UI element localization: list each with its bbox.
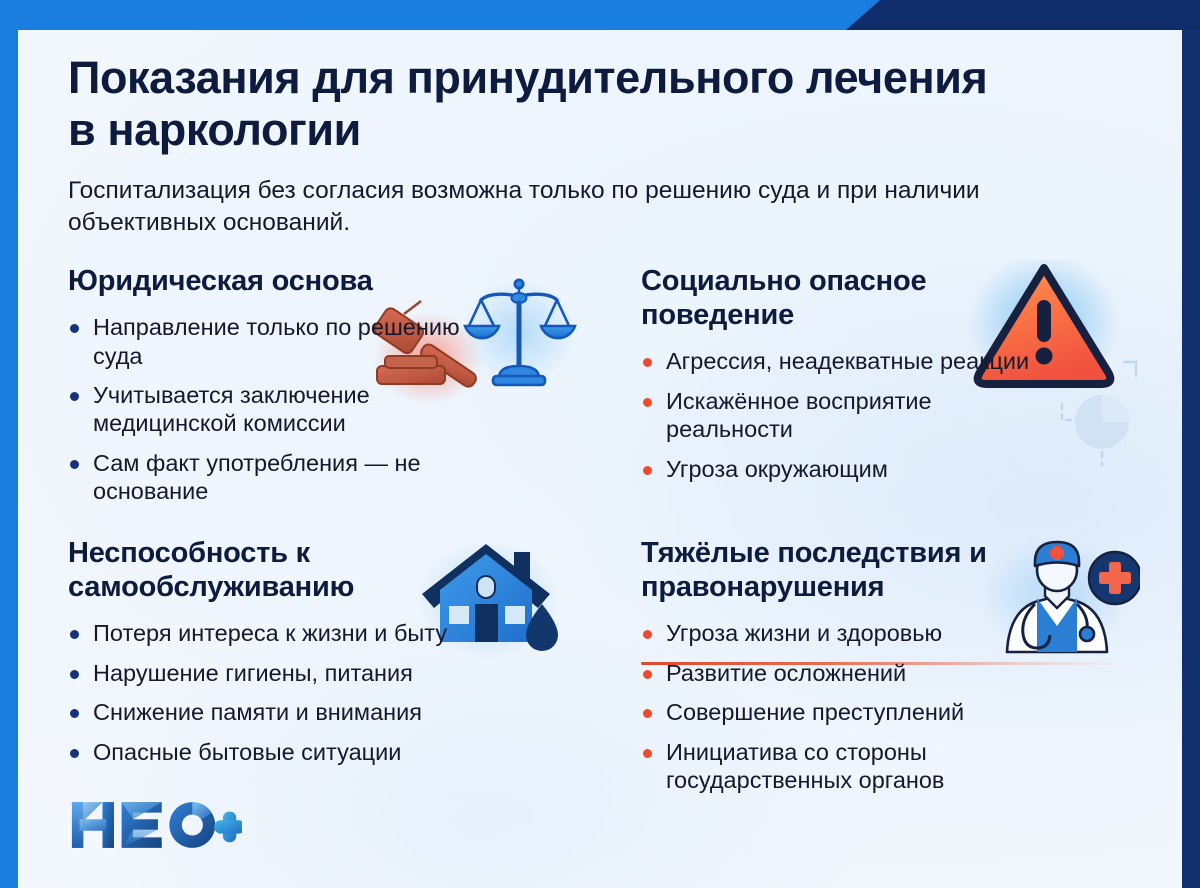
brand-logo[interactable] [70, 798, 242, 852]
infographic-poster: Показания для принудительного лечения в … [0, 0, 1200, 888]
list-item: Угроза окружающим [641, 455, 1061, 483]
frame-right-edge [1182, 0, 1200, 888]
page-title: Показания для принудительного лечения в … [68, 52, 1008, 156]
frame-top-band-blue [0, 0, 880, 30]
list-item: Искажённое восприятие реальности [641, 387, 1061, 444]
poster-header: Показания для принудительного лечения в … [68, 52, 1078, 239]
neo-plus-logo-icon [70, 798, 242, 852]
list-item: Развитие осложнений [641, 659, 1061, 687]
poster-card: Показания для принудительного лечения в … [18, 30, 1182, 888]
block-socially-dangerous-behaviour: Социально опасное поведение Агрессия, не… [623, 264, 1158, 536]
page-subtitle: Госпитализация без согласия возможна тол… [68, 175, 1008, 239]
list-item: Учитывается заключение медицинской комис… [68, 381, 488, 438]
list-item: Агрессия, неадекватные реакции [641, 347, 1061, 375]
block-title: Юридическая основа [68, 264, 498, 298]
block-title: Тяжёлые последствия и правонарушения [641, 536, 1041, 604]
list-item: Угроза жизни и здоровью [641, 619, 1061, 647]
list-item: Опасные бытовые ситуации [68, 738, 488, 766]
blocks-grid: Юридическая основа Направление только по… [68, 264, 1158, 844]
block-title: Неспособность к самообслуживанию [68, 536, 498, 604]
block-bullets: Угроза жизни и здоровью Развитие осложне… [641, 619, 1150, 794]
list-item: Потеря интереса к жизни и быту [68, 619, 488, 647]
list-item: Сам факт употребления — не основание [68, 449, 488, 506]
list-item: Нарушение гигиены, питания [68, 659, 488, 687]
block-bullets: Потеря интереса к жизни и быту Нарушение… [68, 619, 615, 766]
block-legal-basis: Юридическая основа Направление только по… [68, 264, 623, 536]
frame-left-edge [0, 0, 18, 888]
list-item: Направление только по решению суда [68, 313, 488, 370]
list-item: Совершение преступлений [641, 698, 1061, 726]
frame-top-band [0, 0, 1200, 30]
list-item: Снижение памяти и внимания [68, 698, 488, 726]
list-item: Инициатива со стороны государственных ор… [641, 738, 1061, 795]
block-bullets: Направление только по решению суда Учиты… [68, 313, 615, 506]
block-title: Социально опасное поведение [641, 264, 1041, 332]
block-bullets: Агрессия, неадекватные реакции Искажённо… [641, 347, 1150, 483]
block-severe-consequences: Тяжёлые последствия и правонарушения Угр… [623, 536, 1158, 844]
